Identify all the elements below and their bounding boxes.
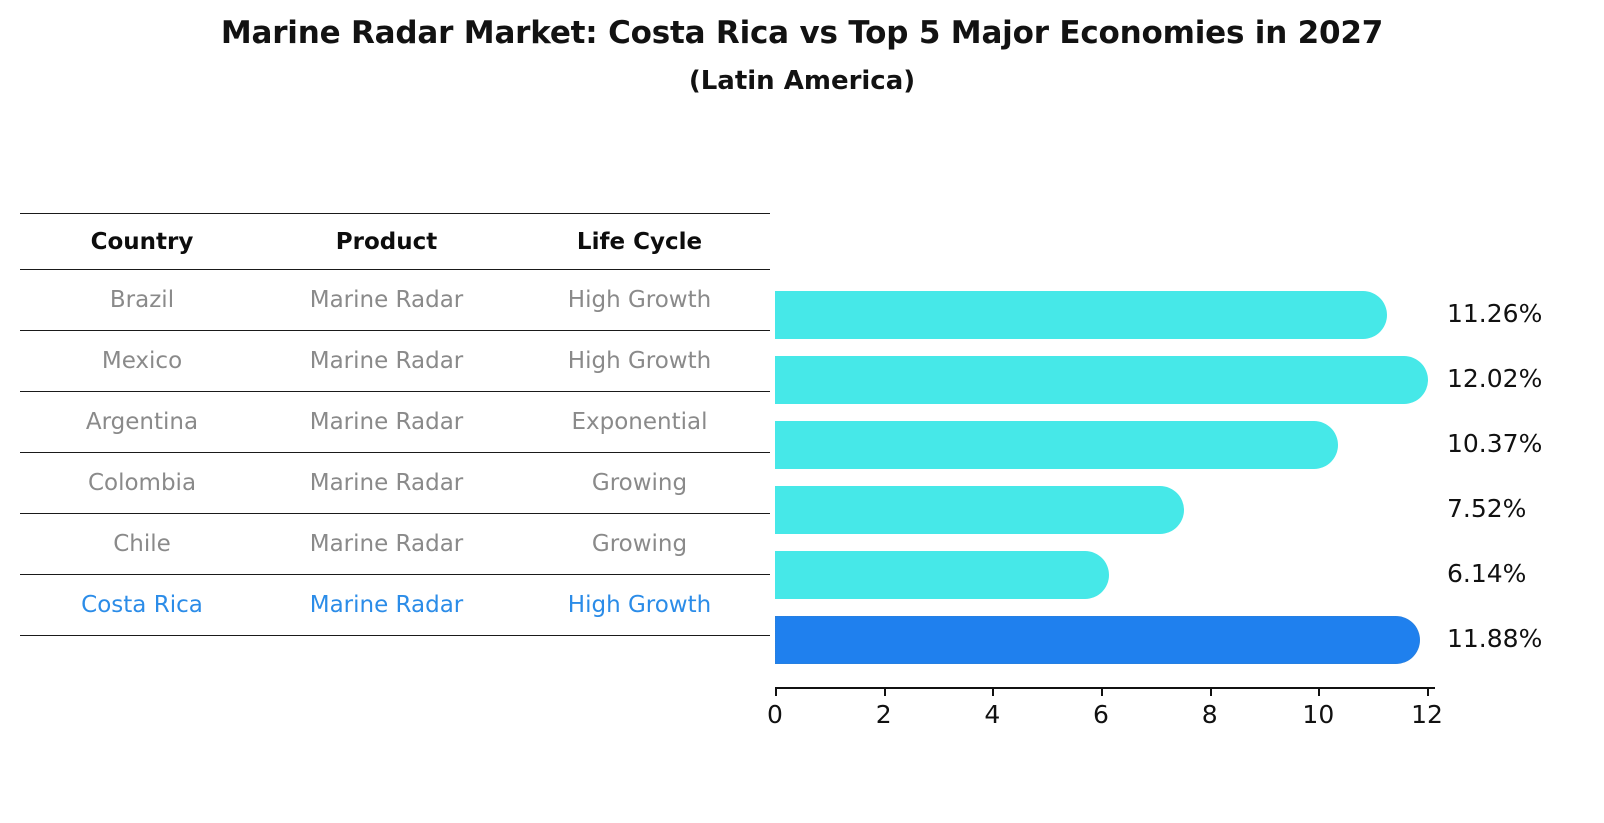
table-row: BrazilMarine RadarHigh Growth: [20, 270, 770, 331]
table-row: ChileMarine RadarGrowing: [20, 514, 770, 575]
bar-row: 11.88%: [775, 608, 1585, 672]
bar-value-label: 11.88%: [1447, 624, 1542, 653]
bar-value-label: 6.14%: [1447, 559, 1526, 588]
x-axis-tick-label: 2: [876, 700, 892, 729]
bar-row: 6.14%: [775, 543, 1585, 607]
column-header-life-cycle: Life Cycle: [509, 214, 770, 270]
country-table: Country Product Life Cycle BrazilMarine …: [20, 213, 770, 636]
bar-row: 10.37%: [775, 413, 1585, 477]
bar-chart: 11.26%12.02%10.37%7.52%6.14%11.88%: [775, 213, 1585, 733]
table-row: Costa RicaMarine RadarHigh Growth: [20, 575, 770, 636]
x-axis-tick: [1318, 687, 1320, 696]
table-cell-life-cycle: High Growth: [509, 270, 770, 331]
table-cell-life-cycle: Growing: [509, 453, 770, 514]
table-cell-country: Mexico: [20, 331, 264, 392]
table-cell-product: Marine Radar: [264, 453, 509, 514]
table-row: MexicoMarine RadarHigh Growth: [20, 331, 770, 392]
x-axis-tick-label: 10: [1302, 700, 1334, 729]
bar: [775, 421, 1338, 469]
table-cell-product: Marine Radar: [264, 331, 509, 392]
table-cell-country: Chile: [20, 514, 264, 575]
x-axis-tick: [992, 687, 994, 696]
x-axis-line: [775, 687, 1435, 689]
table-cell-country: Brazil: [20, 270, 264, 331]
table-body: BrazilMarine RadarHigh GrowthMexicoMarin…: [20, 270, 770, 636]
bar-highlight: [775, 616, 1420, 664]
x-axis-tick-label: 4: [984, 700, 1000, 729]
bar-value-label: 12.02%: [1447, 364, 1542, 393]
x-axis-tick-label: 0: [767, 700, 783, 729]
table-cell-life-cycle: Growing: [509, 514, 770, 575]
bar-value-label: 11.26%: [1447, 299, 1542, 328]
page-title: Marine Radar Market: Costa Rica vs Top 5…: [0, 14, 1604, 54]
table-cell-product: Marine Radar: [264, 392, 509, 453]
bar: [775, 486, 1184, 534]
x-axis-tick: [884, 687, 886, 696]
table-cell-product: Marine Radar: [264, 514, 509, 575]
bar: [775, 356, 1428, 404]
table-cell-life-cycle: High Growth: [509, 575, 770, 636]
x-axis: 024681012: [775, 687, 1435, 747]
bar-row: 11.26%: [775, 283, 1585, 347]
table-row: ArgentinaMarine RadarExponential: [20, 392, 770, 453]
table-cell-life-cycle: Exponential: [509, 392, 770, 453]
table-row: ColombiaMarine RadarGrowing: [20, 453, 770, 514]
x-axis-tick: [1101, 687, 1103, 696]
table-cell-country: Costa Rica: [20, 575, 264, 636]
table-cell-product: Marine Radar: [264, 575, 509, 636]
column-header-product: Product: [264, 214, 509, 270]
table-cell-country: Colombia: [20, 453, 264, 514]
x-axis-tick: [775, 687, 777, 696]
table-cell-country: Argentina: [20, 392, 264, 453]
page-subtitle: (Latin America): [0, 66, 1604, 97]
x-axis-tick-label: 6: [1093, 700, 1109, 729]
table-header: Country Product Life Cycle: [20, 214, 770, 270]
table-header-row: Country Product Life Cycle: [20, 214, 770, 270]
bar-row: 12.02%: [775, 348, 1585, 412]
bar: [775, 291, 1387, 339]
x-axis-tick: [1427, 687, 1429, 696]
bar: [775, 551, 1109, 599]
bar-row: 7.52%: [775, 478, 1585, 542]
x-axis-tick-label: 8: [1202, 700, 1218, 729]
title-block: Marine Radar Market: Costa Rica vs Top 5…: [0, 14, 1604, 97]
bar-value-label: 7.52%: [1447, 494, 1526, 523]
table-cell-product: Marine Radar: [264, 270, 509, 331]
x-axis-tick: [1210, 687, 1212, 696]
column-header-country: Country: [20, 214, 264, 270]
x-axis-tick-label: 12: [1411, 700, 1443, 729]
table-cell-life-cycle: High Growth: [509, 331, 770, 392]
bar-value-label: 10.37%: [1447, 429, 1542, 458]
country-table-panel: Country Product Life Cycle BrazilMarine …: [20, 213, 770, 636]
